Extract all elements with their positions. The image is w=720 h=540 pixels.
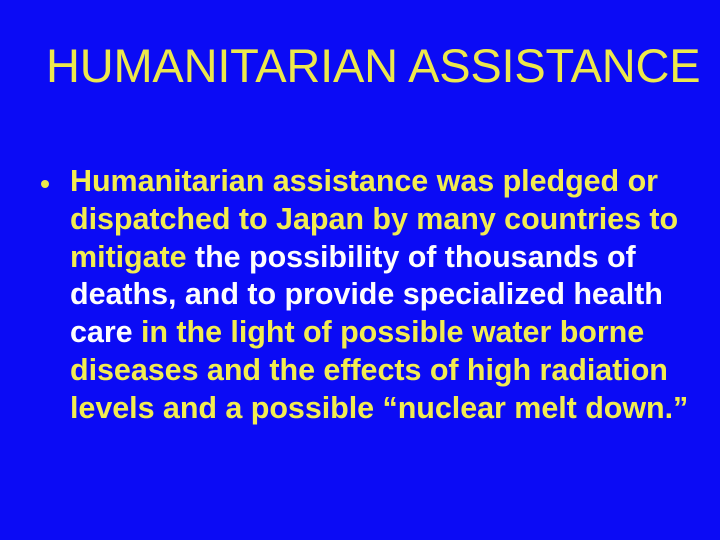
slide-title: HUMANITARIAN ASSISTANCE — [46, 40, 686, 92]
slide-body: Humanitarian assistance was pledged or d… — [36, 163, 696, 428]
presentation-slide: HUMANITARIAN ASSISTANCE Humanitarian ass… — [0, 0, 720, 540]
bullet-list-item: Humanitarian assistance was pledged or d… — [36, 163, 696, 428]
bullet-point-icon — [41, 180, 49, 188]
text-run-3: in the light of possible water borne dis… — [70, 315, 688, 425]
bullet-item-text: Humanitarian assistance was pledged or d… — [70, 163, 696, 428]
